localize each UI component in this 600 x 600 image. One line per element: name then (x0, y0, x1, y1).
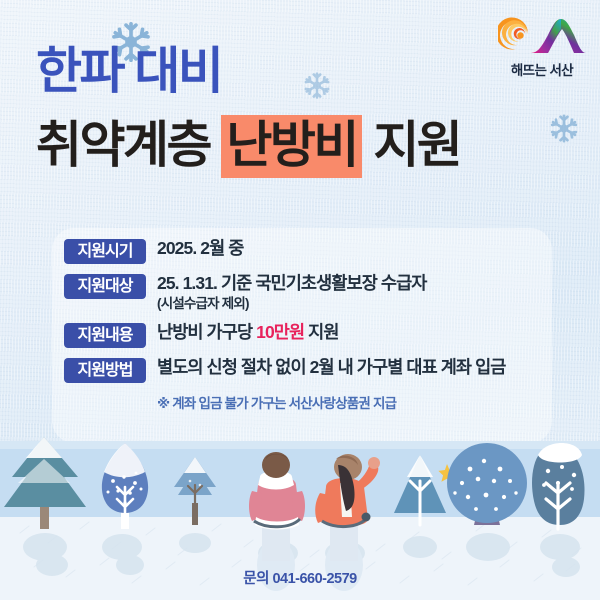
info-row-support-method: 지원방법 별도의 신청 절차 없이 2월 내 가구별 대표 계좌 입금 (64, 357, 564, 383)
info-value-suffix: 지원 (304, 322, 338, 342)
info-rows: 지원시기 2025. 2월 중 지원대상 25. 1.31. 기준 국민기초생활… (64, 238, 564, 412)
info-label-badge: 지원시기 (64, 239, 146, 264)
info-value-prefix: 난방비 가구당 (157, 322, 256, 342)
info-note: ※ 계좌 입금 불가 가구는 서산사랑상품권 지급 (157, 392, 564, 412)
info-value: 난방비 가구당 10만원 지원 (157, 322, 339, 344)
title-line2-after: 지원 (373, 117, 460, 173)
info-value: 25. 1.31. 기준 국민기초생활보장 수급자 (시설수급자 제외) (157, 273, 427, 313)
info-value-text: 별도의 신청 절차 없이 2월 내 가구별 대표 계좌 입금 (157, 357, 506, 377)
info-value-text: 2025. 2월 중 (157, 238, 243, 258)
info-row-support-period: 지원시기 2025. 2월 중 (64, 238, 564, 264)
title-line-2: 취약계층 난방비 지원 (36, 120, 576, 170)
info-value-subtext: (시설수급자 제외) (157, 296, 427, 313)
info-value: 2025. 2월 중 (157, 238, 243, 260)
sky-band-top (0, 441, 600, 449)
info-label-badge: 지원대상 (64, 274, 146, 299)
title-line2-before: 취약계층 (36, 117, 210, 173)
title-line-1: 한파 대비 (36, 46, 576, 96)
footer-contact: 문의 041-660-2579 (0, 567, 600, 588)
info-row-support-content: 지원내용 난방비 가구당 10만원 지원 (64, 322, 564, 348)
title-block: 한파 대비 취약계층 난방비 지원 (36, 46, 576, 170)
info-row-eligibility: 지원대상 25. 1.31. 기준 국민기초생활보장 수급자 (시설수급자 제외… (64, 273, 564, 313)
info-value-text: 25. 1.31. 기준 국민기초생활보장 수급자 (157, 273, 427, 293)
info-label-badge: 지원내용 (64, 323, 146, 348)
poster: 해뜨는 서산 한파 대비 취약계층 난방비 지원 지원시기 2025. 2월 중… (0, 0, 600, 600)
info-value-amount: 10만원 (256, 322, 304, 342)
info-label-badge: 지원방법 (64, 358, 146, 383)
title-highlight: 난방비 (221, 115, 362, 178)
info-value: 별도의 신청 절차 없이 2월 내 가구별 대표 계좌 입금 (157, 357, 506, 379)
